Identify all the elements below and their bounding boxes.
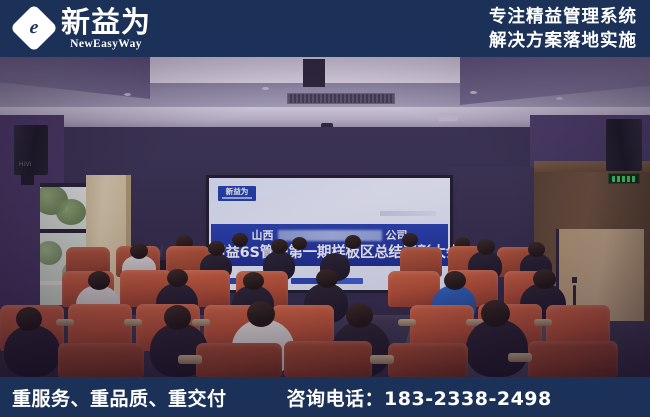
header-tagline: 专注精益管理系统 解决方案落地实施 [489, 5, 650, 53]
slide-watermark [380, 211, 436, 216]
downlight-icon [124, 93, 131, 96]
audience-head [247, 301, 275, 327]
slide-title-prefix: 山西 [252, 229, 274, 242]
footer-phone-label: 咨询电话： [287, 388, 385, 410]
audience-head [533, 269, 556, 289]
audience-head [16, 307, 42, 331]
seat [284, 341, 372, 377]
armrest [534, 319, 552, 326]
armrest [370, 355, 394, 364]
audience-head [528, 242, 545, 257]
wall-speaker-right [606, 119, 642, 171]
audience-head [88, 271, 110, 290]
downlight-icon [470, 91, 477, 94]
audience-head [402, 233, 418, 247]
seat [58, 343, 144, 377]
tree-foliage [56, 199, 86, 225]
air-vent-grille [287, 93, 395, 104]
armrest [508, 353, 532, 362]
audience-head [292, 237, 307, 250]
audience-head [271, 239, 288, 254]
audience-head [232, 233, 248, 247]
audience-head [243, 272, 264, 290]
downlight-icon [556, 97, 563, 100]
audience-head [130, 243, 148, 259]
footer-phone: 咨询电话：183-2338-2498 [287, 384, 552, 411]
slide-logo-underline [222, 197, 252, 199]
seat [388, 343, 468, 377]
slide-logo-icon: 新益为 [218, 186, 256, 201]
header-bar: e 新益为 NewEasyWay 专注精益管理系统 解决方案落地实施 [0, 0, 650, 57]
armrest [178, 355, 202, 364]
audience-head [316, 269, 338, 288]
diamond-logo-icon: e [14, 8, 54, 48]
tagline-line-2: 解决方案落地实施 [489, 29, 637, 53]
audience-person [4, 325, 60, 377]
audience-head [345, 235, 361, 249]
promotional-image: e 新益为 NewEasyWay 专注精益管理系统 解决方案落地实施 [0, 0, 650, 417]
tree-foliage [40, 241, 62, 265]
seat [528, 341, 618, 377]
brand-text-block: 新益为 NewEasyWay [61, 7, 151, 51]
exit-sign-icon [608, 173, 640, 184]
footer-bar: 重服务、重品质、重交付 咨询电话：183-2338-2498 [0, 377, 650, 417]
audience-head [477, 239, 495, 255]
logo-glyph: e [21, 18, 47, 38]
ceiling-slot [303, 59, 325, 87]
footer-phone-number: 183-2338-2498 [384, 388, 552, 410]
armrest [398, 319, 416, 326]
brand-name-cn: 新益为 [61, 7, 151, 37]
auditorium-photo: HiVi 新益为 山西 公司 精益6S管理第一期样板区总结表彰大会 [0, 57, 650, 377]
armrest [56, 319, 74, 326]
downlight-icon [262, 87, 269, 90]
speaker-brand-label: HiVi [19, 162, 32, 168]
audience-head [444, 271, 466, 290]
audience-head [164, 305, 191, 330]
audience-head [208, 241, 225, 256]
tagline-line-1: 专注精益管理系统 [489, 5, 637, 29]
slide-logo-text: 新益为 [226, 188, 249, 196]
footer-slogan: 重服务、重品质、重交付 [0, 384, 227, 411]
seat [196, 343, 282, 377]
audience-head [346, 303, 373, 328]
company-logo: e 新益为 NewEasyWay [0, 7, 151, 51]
audience-head [481, 300, 510, 327]
armrest [124, 319, 142, 326]
audience-person [466, 319, 528, 377]
brand-name-en: NewEasyWay [70, 38, 142, 51]
ceiling-panel-light [438, 113, 458, 121]
armrest [192, 319, 210, 326]
downlight-icon [108, 114, 114, 118]
audience-head [167, 269, 188, 287]
wall-speaker-left: HiVi [14, 125, 48, 175]
door-handle-icon[interactable] [573, 285, 576, 307]
